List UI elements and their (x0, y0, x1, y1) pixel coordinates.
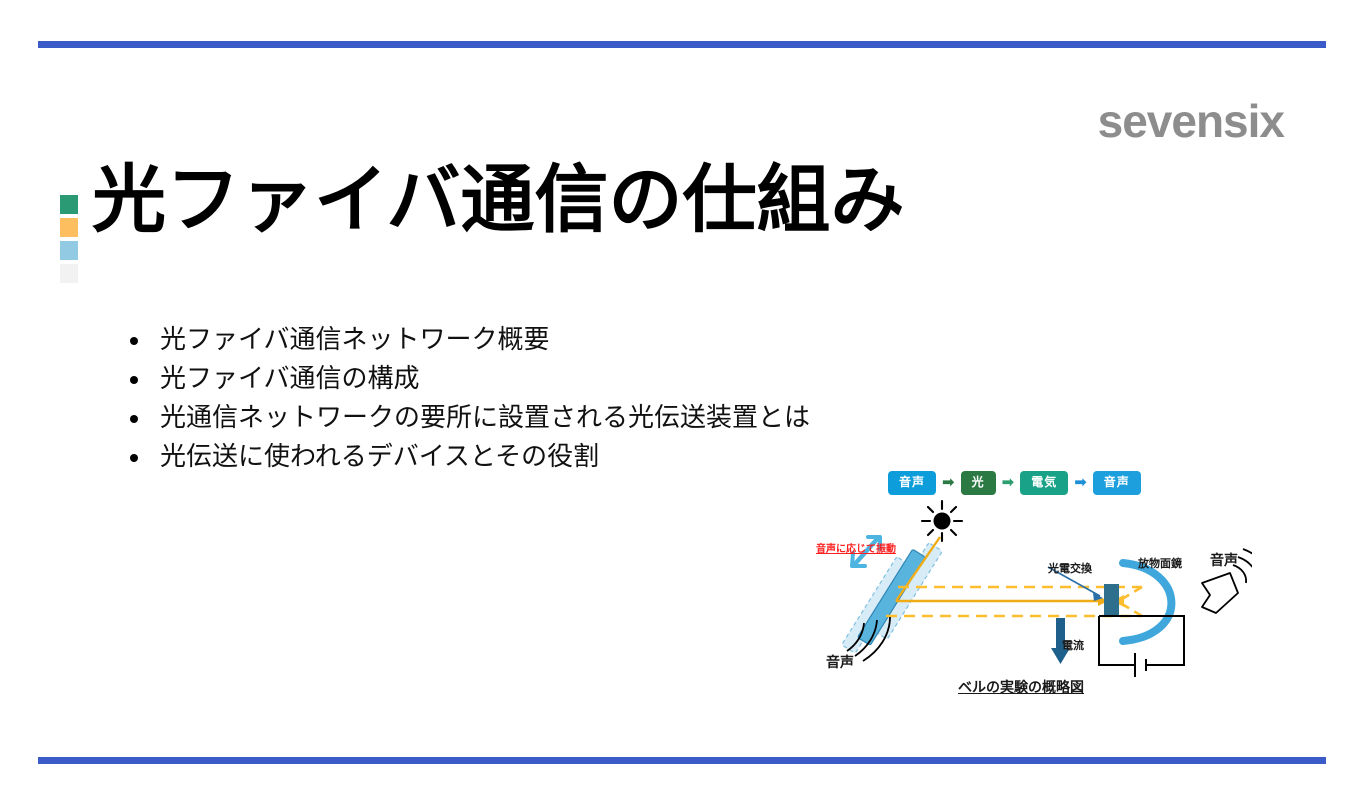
flow-arrow-2-icon: ➡ (1002, 475, 1015, 490)
title-swatch-orange (60, 218, 78, 237)
label-current: 電流 (1062, 637, 1084, 653)
label-sound-right: 音声 (1210, 550, 1238, 570)
slide-canvas: sevensix 光ファイバ通信の仕組み 光ファイバ通信ネットワーク概要 光ファ… (0, 0, 1362, 808)
label-vibration: 音声に応じて振動 (816, 540, 896, 555)
speaker-horn-icon (1202, 573, 1238, 613)
bell-experiment-diagram (790, 465, 1252, 680)
title-swatch-blue (60, 241, 78, 260)
sun-icon (922, 501, 962, 541)
title-swatch-group (60, 195, 78, 283)
list-item: 光伝送に使われるデバイスとその役割 (124, 437, 810, 476)
brand-logo: sevensix (1098, 98, 1284, 144)
flow-arrow-3-icon: ➡ (1074, 475, 1087, 490)
label-parabolic-mirror: 放物面鏡 (1138, 555, 1182, 571)
label-photoelectric: 光電交換 (1048, 560, 1092, 576)
dashed-beam-converge-bottom (1122, 604, 1142, 616)
page-title: 光ファイバ通信の仕組み (92, 160, 905, 240)
title-swatch-gray (60, 264, 78, 283)
title-block: 光ファイバ通信の仕組み (60, 160, 905, 283)
label-sound-left: 音声 (826, 652, 854, 672)
list-item: 光ファイバ通信ネットワーク概要 (124, 320, 810, 359)
bottom-divider-rule (38, 757, 1326, 764)
parabolic-mirror (1123, 563, 1171, 641)
dashed-beam-converge-top (1122, 587, 1142, 599)
flow-box-light: 光 (961, 471, 996, 495)
title-swatch-green (60, 195, 78, 214)
flow-box-electricity: 電気 (1020, 471, 1068, 495)
top-divider-rule (38, 41, 1326, 48)
figure-caption: ベルの実験の概略図 (790, 677, 1252, 697)
battery-symbol (1123, 653, 1160, 677)
flow-box-sound-in: 音声 (888, 471, 936, 495)
flow-arrow-1-icon: ➡ (942, 475, 955, 490)
energy-conversion-flow: 音声 ➡ 光 ➡ 電気 ➡ 音声 (888, 471, 1141, 495)
list-item: 光ファイバ通信の構成 (124, 359, 810, 398)
figure-caption-text: ベルの実験の概略図 (958, 679, 1084, 695)
bell-experiment-figure: 音声 ➡ 光 ➡ 電気 ➡ 音声 (790, 465, 1252, 717)
list-item: 光通信ネットワークの要所に設置される光伝送装置とは (124, 398, 810, 437)
agenda-list: 光ファイバ通信ネットワーク概要 光ファイバ通信の構成 光通信ネットワークの要所に… (124, 320, 810, 476)
flow-box-sound-out: 音声 (1093, 471, 1141, 495)
photoelectric-cell (1104, 584, 1119, 616)
